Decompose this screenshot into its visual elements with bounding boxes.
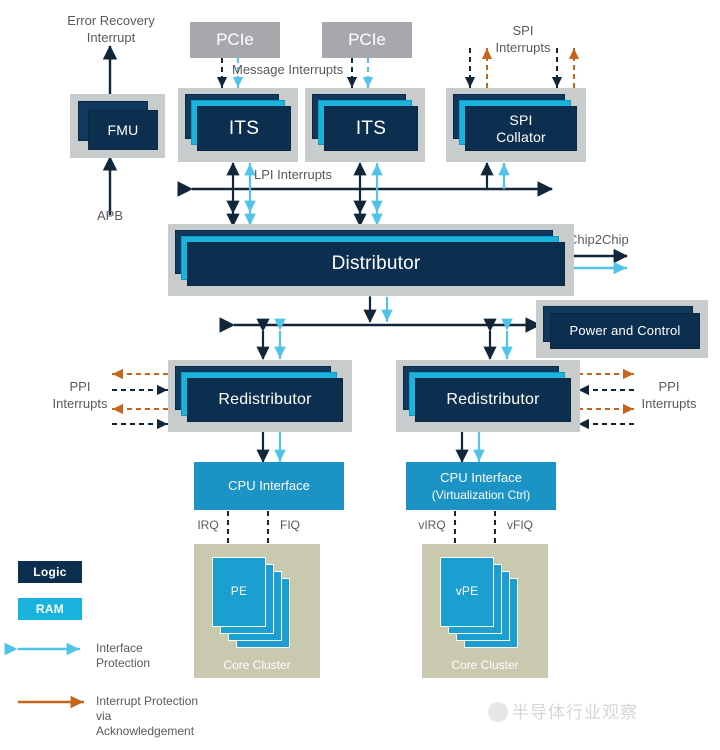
spi-collator-label: SPI Collator <box>466 107 576 150</box>
spi-collator-layer-front: SPI Collator <box>465 106 577 151</box>
label-message-interrupts: Message Interrupts <box>232 61 382 78</box>
pcie-left-label: PCIe <box>216 30 254 50</box>
label-apb: APB <box>80 207 140 224</box>
label-error-recovery-interrupt: Error Recovery Interrupt <box>46 12 176 46</box>
distributor-module[interactable]: Distributor <box>168 224 574 296</box>
watermark-logo-icon <box>488 702 508 722</box>
power-and-control-module[interactable]: Power and Control <box>536 300 708 358</box>
its-left-layer-front: ITS <box>197 106 291 151</box>
label-chip2chip: Chip2Chip <box>568 231 658 248</box>
core-cluster-right[interactable]: vPE Core Cluster <box>422 544 548 678</box>
redistributor-right-label: Redistributor <box>416 379 570 421</box>
label-ppi-interrupts-right: PPI Interrupts <box>634 378 704 412</box>
redistributor-left-label: Redistributor <box>188 379 342 421</box>
vpe-label: vPE <box>441 558 493 626</box>
legend-chip-logic: Logic <box>18 561 82 583</box>
power-and-control-label: Power and Control <box>551 314 699 348</box>
its-right-module[interactable]: ITS <box>305 88 425 162</box>
redistributor-left-module[interactable]: Redistributor <box>168 360 352 432</box>
core-cluster-right-label: Core Cluster <box>422 658 548 672</box>
watermark: 半导体行业观察 <box>488 698 638 723</box>
label-ppi-interrupts-left: PPI Interrupts <box>48 378 112 412</box>
label-lpi-interrupts: LPI Interrupts <box>254 166 364 183</box>
cpu-interface-left[interactable]: CPU Interface <box>194 462 344 510</box>
legend-interface-protection-label: Interface Protection <box>96 641 226 671</box>
legend-chip-ram: RAM <box>18 598 82 620</box>
label-vfiq: vFIQ <box>498 517 542 534</box>
pcie-left-block[interactable]: PCIe <box>190 22 280 58</box>
cpu-interface-right-line1: CPU Interface <box>440 469 522 487</box>
its-right-layer-front: ITS <box>324 106 418 151</box>
redistributor-left-layer-front: Redistributor <box>187 378 343 422</box>
redistributor-right-module[interactable]: Redistributor <box>396 360 580 432</box>
label-fiq: FIQ <box>272 517 308 534</box>
spi-collator-module[interactable]: SPI Collator <box>446 88 586 162</box>
diagram-canvas: Error Recovery Interrupt APB Message Int… <box>0 0 720 750</box>
fmu-layer-front: FMU <box>88 110 158 150</box>
fmu-module[interactable]: FMU <box>70 94 165 158</box>
label-spi-interrupts: SPI Interrupts <box>488 22 558 56</box>
pe-label: PE <box>213 558 265 626</box>
its-left-label: ITS <box>198 107 290 150</box>
legend-interrupt-protection-label: Interrupt Protection via Acknowledgement <box>96 694 276 739</box>
pcie-right-label: PCIe <box>348 30 386 50</box>
label-irq: IRQ <box>190 517 226 534</box>
redistributor-right-layer-front: Redistributor <box>415 378 571 422</box>
its-right-label: ITS <box>325 107 417 150</box>
watermark-text: 半导体行业观察 <box>512 703 638 722</box>
pcie-right-block[interactable]: PCIe <box>322 22 412 58</box>
distributor-layer-front: Distributor <box>187 242 565 286</box>
cpu-interface-left-line1: CPU Interface <box>228 477 310 495</box>
label-virq: vIRQ <box>410 517 454 534</box>
its-left-module[interactable]: ITS <box>178 88 298 162</box>
fmu-label: FMU <box>89 111 157 149</box>
cpu-interface-right[interactable]: CPU Interface (Virtualization Ctrl) <box>406 462 556 510</box>
legend-ram-label: RAM <box>36 602 64 616</box>
pe-stack-front: PE <box>212 557 266 627</box>
vpe-stack-front: vPE <box>440 557 494 627</box>
power-and-control-layer-front: Power and Control <box>550 313 700 349</box>
cpu-interface-right-line2: (Virtualization Ctrl) <box>432 487 530 503</box>
distributor-label: Distributor <box>188 243 564 285</box>
legend-logic-label: Logic <box>33 565 67 579</box>
